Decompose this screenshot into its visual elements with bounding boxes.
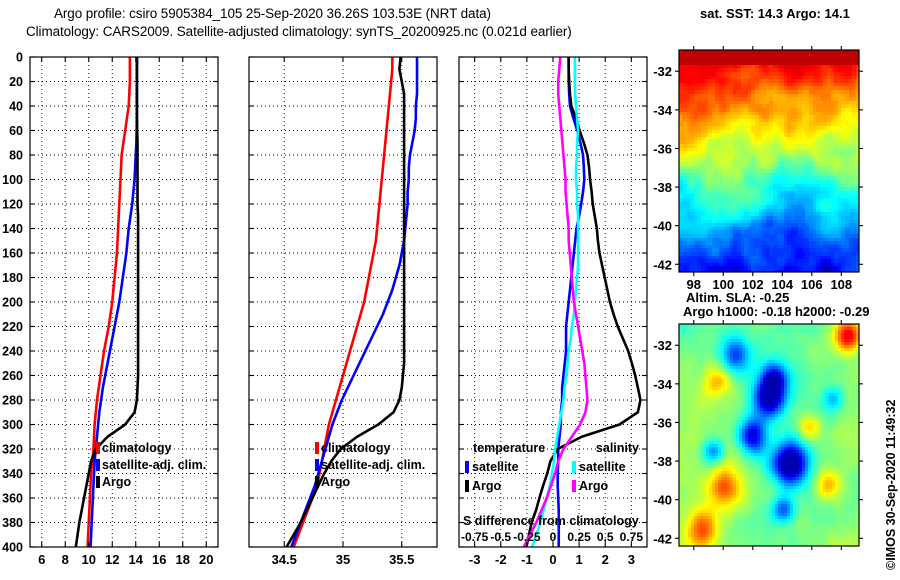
x-tick-label: -1 bbox=[521, 552, 533, 567]
legend-swatch bbox=[465, 461, 469, 473]
salinity-diff-axis-label: S difference from climatology bbox=[463, 514, 639, 528]
imos-watermark: ©IMOS 30-Sep-2020 11:49:32 bbox=[884, 400, 898, 570]
x-tick-label: 3 bbox=[628, 552, 635, 567]
legend-label: Argo bbox=[472, 479, 502, 493]
salinity-diff-tick-label: -0.25 bbox=[513, 530, 541, 544]
legend-swatch bbox=[572, 461, 576, 473]
sst-map-title: sat. SST: 14.3 Argo: 14.1 bbox=[700, 6, 850, 21]
legend-label: Argo bbox=[579, 479, 609, 493]
x-tick-label: -3 bbox=[469, 552, 481, 567]
x-tick-label: 0 bbox=[549, 552, 556, 567]
argo-profile-figure: Argo profile: csiro 5905384_105 25-Sep-2… bbox=[0, 0, 900, 580]
altimeter-sla-label: Altim. SLA: -0.25 bbox=[686, 290, 789, 305]
sst-map-image bbox=[679, 50, 859, 272]
legend-label: satellite bbox=[579, 460, 626, 474]
legend-title-salinity: salinity bbox=[596, 441, 639, 455]
salinity-diff-tick-label: -0.75 bbox=[461, 530, 489, 544]
x-tick-label: -2 bbox=[495, 552, 507, 567]
map-x-tick-label: 108 bbox=[830, 277, 852, 292]
legend-label: satellite bbox=[472, 460, 519, 474]
height-map-title: Argo h1000: -0.18 h2000: -0.29 bbox=[683, 304, 869, 319]
figure-title-line1: Argo profile: csiro 5905384_105 25-Sep-2… bbox=[54, 6, 491, 21]
x-tick-label: 2 bbox=[602, 552, 609, 567]
salinity-diff-tick-label: 0.5 bbox=[597, 530, 614, 544]
legend-title-temperature: temperature bbox=[473, 441, 545, 455]
salinity-diff-tick-label: 0.75 bbox=[620, 530, 644, 544]
map-x-tick-label: 106 bbox=[801, 277, 823, 292]
figure-title-line2: Climatology: CARS2009. Satellite-adjuste… bbox=[26, 24, 572, 39]
salinity-diff-tick-label: 0 bbox=[550, 530, 557, 544]
difference-profile-svg: -3-2-10123-0.75-0.5-0.2500.250.50.75S di… bbox=[0, 48, 677, 580]
x-tick-label: 1 bbox=[575, 552, 582, 567]
legend-swatch bbox=[572, 480, 576, 492]
salinity-diff-tick-label: 0.25 bbox=[567, 530, 591, 544]
height-map-image bbox=[679, 324, 859, 546]
salinity-diff-tick-label: -0.5 bbox=[490, 530, 511, 544]
legend-swatch bbox=[465, 480, 469, 492]
difference-panel: -3-2-10123-0.75-0.5-0.2500.250.50.75S di… bbox=[0, 48, 677, 580]
